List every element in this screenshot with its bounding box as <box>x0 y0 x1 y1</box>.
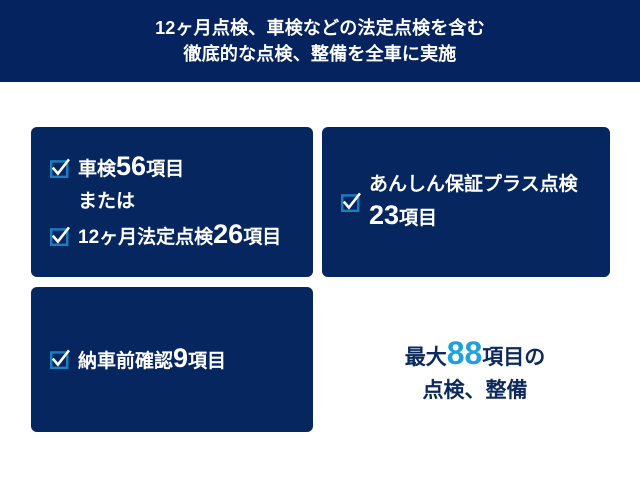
checkbox-checked-icon <box>50 350 69 369</box>
checkbox-checked-icon <box>341 193 360 212</box>
summary-suffix: の <box>524 346 545 369</box>
label-text-after: 項目 <box>399 208 437 229</box>
label-text-after: 項目 <box>243 227 281 248</box>
label-text-after: 項目 <box>188 351 226 372</box>
label-text-before: 12ヶ月法定点検 <box>78 227 213 248</box>
inspection-row-12month: 12ヶ月法定点検26項目 <box>50 220 313 252</box>
promo-panel: 12ヶ月点検、車検などの法定点検を含む 徹底的な点検、整備を全車に実施 車検56… <box>0 0 640 480</box>
checkbox-checked-icon <box>50 159 69 178</box>
summary-prefix: 最大 <box>405 346 447 369</box>
label-text-before: 納車前確認 <box>78 351 173 372</box>
label-number: 56 <box>116 151 146 181</box>
summary-middle: 項目 <box>482 346 524 369</box>
inspection-row-or: または <box>50 188 313 216</box>
warranty-plus-count: 23項目 <box>369 201 578 236</box>
label-text-before: 車検 <box>78 159 116 180</box>
inspection-items-card: 車検56項目 または 12ヶ月法定点検26項目 <box>31 127 313 277</box>
label-number: 9 <box>173 343 188 373</box>
warranty-plus-card: あんしん保証プラス点検 23項目 <box>322 127 610 277</box>
inspection-row-shaken-label: 車検56項目 <box>78 152 184 184</box>
inspection-row-shaken: 車検56項目 <box>50 152 313 184</box>
inspection-row-12month-label: 12ヶ月法定点検26項目 <box>78 220 281 252</box>
summary-line-2: 点検、整備 <box>423 374 528 407</box>
checkbox-checked-icon <box>50 227 69 246</box>
summary-total-number: 88 <box>447 335 483 371</box>
summary-line-1: 最大88項目の <box>405 337 546 374</box>
warranty-plus-text-block: あんしん保証プラス点検 23項目 <box>369 169 578 236</box>
predelivery-check-card: 納車前確認9項目 <box>31 287 313 432</box>
banner-headline-line-2: 徹底的な点検、整備を全車に実施 <box>184 41 457 67</box>
inspection-row-or-label: または <box>78 188 135 216</box>
label-text-after: 項目 <box>146 159 184 180</box>
label-number: 26 <box>213 219 243 249</box>
label-number: 23 <box>369 200 399 230</box>
predelivery-check-label: 納車前確認9項目 <box>78 344 226 376</box>
warranty-plus-title: あんしん保証プラス点検 <box>369 169 578 201</box>
summary-total: 最大88項目の 点検、整備 <box>330 322 620 422</box>
header-banner: 12ヶ月点検、車検などの法定点検を含む 徹底的な点検、整備を全車に実施 <box>0 0 640 82</box>
banner-headline-line-1: 12ヶ月点検、車検などの法定点検を含む <box>155 15 485 41</box>
